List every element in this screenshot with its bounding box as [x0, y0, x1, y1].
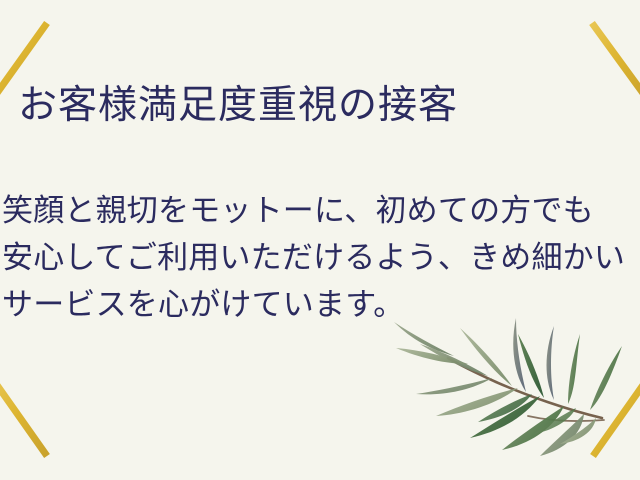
- gold-stroke-top-right: [592, 23, 640, 100]
- leaf: [513, 318, 526, 392]
- leaf: [590, 346, 622, 410]
- leaf: [416, 378, 492, 394]
- leaf: [568, 334, 580, 404]
- gold-stroke-bottom-right: [593, 378, 640, 456]
- page-title: お客様満足度重視の接客: [18, 80, 458, 132]
- leaf: [560, 418, 596, 444]
- branch-stem-lower: [528, 416, 604, 421]
- slide-canvas: お客様満足度重視の接客 笑顔と親切をモットーに、初めての方でも 安心してご利用い…: [0, 0, 640, 480]
- leaf: [460, 328, 512, 386]
- branch-stem: [448, 358, 602, 418]
- gold-stroke-bottom-left: [0, 378, 47, 456]
- leaf: [396, 348, 468, 364]
- leaf: [478, 394, 532, 422]
- body-text-block: 笑顔と親切をモットーに、初めての方でも 安心してご利用いただけるよう、きめ細かい…: [2, 188, 638, 329]
- leaf: [534, 408, 576, 434]
- leaf: [470, 396, 540, 438]
- leaf: [540, 414, 584, 456]
- body-line: 安心してご利用いただけるよう、きめ細かい: [2, 235, 638, 282]
- leaf: [502, 406, 564, 450]
- leaf: [518, 334, 544, 398]
- body-line: 笑顔と親切をモットーに、初めての方でも: [2, 188, 638, 235]
- leaf: [547, 326, 555, 400]
- leaf: [420, 344, 488, 376]
- leaf: [436, 388, 518, 416]
- body-line: サービスを心がけています。: [2, 282, 638, 329]
